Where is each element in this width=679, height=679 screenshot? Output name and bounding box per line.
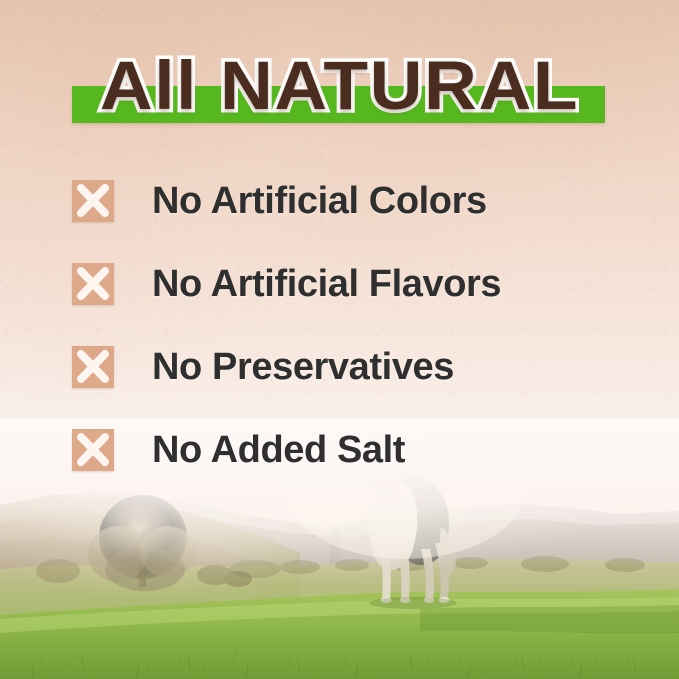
x-mark-icon bbox=[72, 263, 114, 305]
poster-canvas: All NATURAL No Artificial Colors No Arti… bbox=[0, 0, 679, 679]
claim-label: No Artificial Flavors bbox=[152, 263, 501, 305]
list-item: No Preservatives bbox=[72, 338, 612, 396]
claim-label: No Preservatives bbox=[152, 346, 454, 388]
headline-block: All NATURAL bbox=[0, 48, 679, 134]
page-title: All NATURAL bbox=[0, 48, 679, 124]
claim-label: No Artificial Colors bbox=[152, 180, 487, 222]
claim-label: No Added Salt bbox=[152, 429, 405, 471]
x-mark-icon bbox=[72, 346, 114, 388]
x-mark-icon bbox=[72, 180, 114, 222]
list-item: No Added Salt bbox=[72, 421, 612, 479]
claims-list: No Artificial Colors No Artificial Flavo… bbox=[72, 172, 612, 504]
x-mark-icon bbox=[72, 429, 114, 471]
list-item: No Artificial Colors bbox=[72, 172, 612, 230]
list-item: No Artificial Flavors bbox=[72, 255, 612, 313]
